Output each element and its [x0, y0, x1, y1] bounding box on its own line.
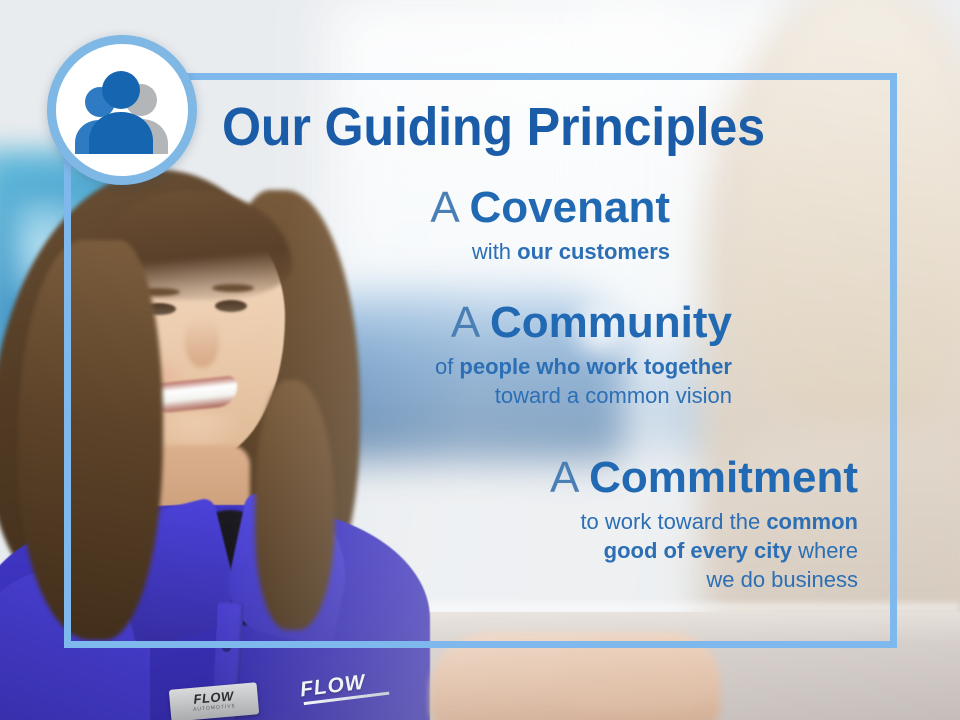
principle-community-subtext-line: toward a common vision: [220, 381, 732, 410]
principle-covenant-heading: A Covenant: [210, 185, 670, 231]
principle-community-subtext: of people who work togethertoward a comm…: [220, 352, 732, 410]
principle-commitment-subtext-line: we do business: [240, 565, 858, 594]
customer-hand-secondary: [560, 640, 710, 710]
guiding-principles-graphic: FLOW AUTOMOTIVE FLOW: [0, 0, 960, 720]
principle-covenant-subtext-line: with our customers: [210, 237, 670, 266]
principle-community-keyword: Community: [490, 298, 732, 347]
principle-community-article: A: [451, 298, 490, 347]
people-group-icon: [56, 44, 188, 176]
principle-commitment-heading: A Commitment: [240, 455, 858, 501]
principle-community: A Community of people who work togethert…: [220, 300, 732, 410]
principle-covenant-subtext: with our customers: [210, 237, 670, 266]
principle-covenant-article: A: [430, 183, 469, 232]
principle-covenant: A Covenant with our customers: [210, 185, 670, 266]
principle-covenant-keyword: Covenant: [470, 183, 670, 232]
principle-community-heading: A Community: [220, 300, 732, 346]
principle-commitment-subtext-line: to work toward the common: [240, 507, 858, 536]
principle-community-subtext-line: of people who work together: [220, 352, 732, 381]
principle-commitment-article: A: [550, 453, 589, 502]
page-title: Our Guiding Principles: [222, 96, 836, 158]
principle-commitment: A Commitment to work toward the commongo…: [240, 455, 858, 594]
principle-commitment-subtext: to work toward the commongood of every c…: [240, 507, 858, 594]
people-badge: [47, 35, 197, 185]
employee-name-badge: FLOW AUTOMOTIVE: [169, 682, 259, 720]
principle-commitment-keyword: Commitment: [589, 453, 858, 502]
principle-commitment-subtext-line: good of every city where: [240, 536, 858, 565]
